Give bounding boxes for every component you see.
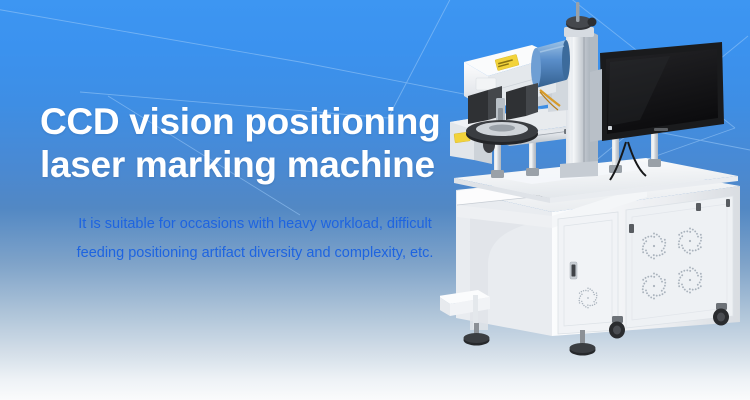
- page-title: CCD vision positioning laser marking mac…: [40, 100, 470, 186]
- cabinet-front-door[interactable]: [558, 212, 618, 334]
- hero-subtitle: It is suitable for occasions with heavy …: [40, 186, 470, 268]
- product-hero-banner: CCD vision positioning laser marking mac…: [0, 0, 750, 400]
- door-lock[interactable]: [570, 262, 577, 279]
- column-adjust-knob[interactable]: [564, 2, 597, 37]
- product-photo-laser-marking-machine: [440, 0, 750, 400]
- hero-copy-block: CCD vision positioning laser marking mac…: [40, 100, 470, 268]
- focus-lens-ring: [466, 120, 538, 145]
